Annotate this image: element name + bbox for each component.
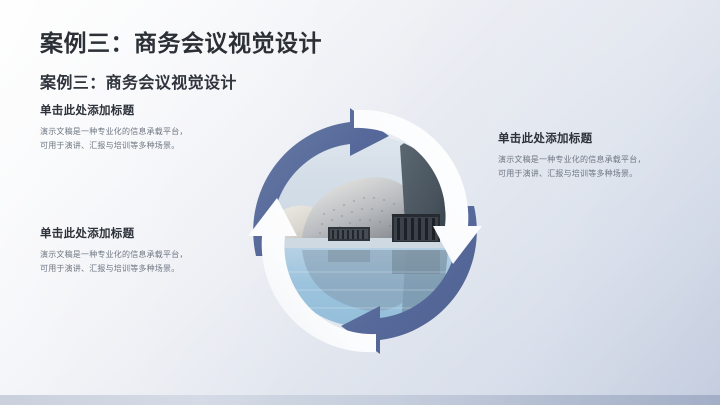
block-body-line: 演示文稿是一种专业化的信息承载平台， bbox=[498, 153, 698, 167]
slide-canvas: 案例三：商务会议视觉设计 案例三：商务会议视觉设计 bbox=[0, 0, 720, 405]
block-heading: 单击此处添加标题 bbox=[40, 102, 245, 118]
bottom-accent-band bbox=[0, 395, 720, 405]
block-body-line: 演示文稿是一种专业化的信息承载平台， bbox=[40, 248, 245, 262]
page-title: 案例三：商务会议视觉设计 bbox=[40, 24, 322, 58]
page-subtitle: 案例三：商务会议视觉设计 bbox=[40, 69, 237, 93]
text-block-right: 单击此处添加标题 演示文稿是一种专业化的信息承载平台， 可用于演讲、汇报与培训等… bbox=[498, 130, 698, 181]
block-body-line: 可用于演讲、汇报与培训等多种场景。 bbox=[40, 262, 245, 276]
text-block-bottom-left: 单击此处添加标题 演示文稿是一种专业化的信息承载平台， 可用于演讲、汇报与培训等… bbox=[40, 225, 245, 276]
block-heading: 单击此处添加标题 bbox=[40, 225, 245, 241]
circular-cycle-diagram bbox=[224, 86, 506, 376]
block-body: 演示文稿是一种专业化的信息承载平台， 可用于演讲、汇报与培训等多种场景。 bbox=[40, 248, 245, 276]
block-body-line: 可用于演讲、汇报与培训等多种场景。 bbox=[498, 167, 698, 181]
block-body: 演示文稿是一种专业化的信息承载平台， 可用于演讲、汇报与培训等多种场景。 bbox=[498, 153, 698, 181]
block-body-line: 演示文稿是一种专业化的信息承载平台， bbox=[40, 125, 245, 139]
block-body-line: 可用于演讲、汇报与培训等多种场景。 bbox=[40, 139, 245, 153]
text-block-top-left: 单击此处添加标题 演示文稿是一种专业化的信息承载平台， 可用于演讲、汇报与培训等… bbox=[40, 102, 245, 153]
block-heading: 单击此处添加标题 bbox=[498, 130, 698, 146]
block-body: 演示文稿是一种专业化的信息承载平台， 可用于演讲、汇报与培训等多种场景。 bbox=[40, 125, 245, 153]
